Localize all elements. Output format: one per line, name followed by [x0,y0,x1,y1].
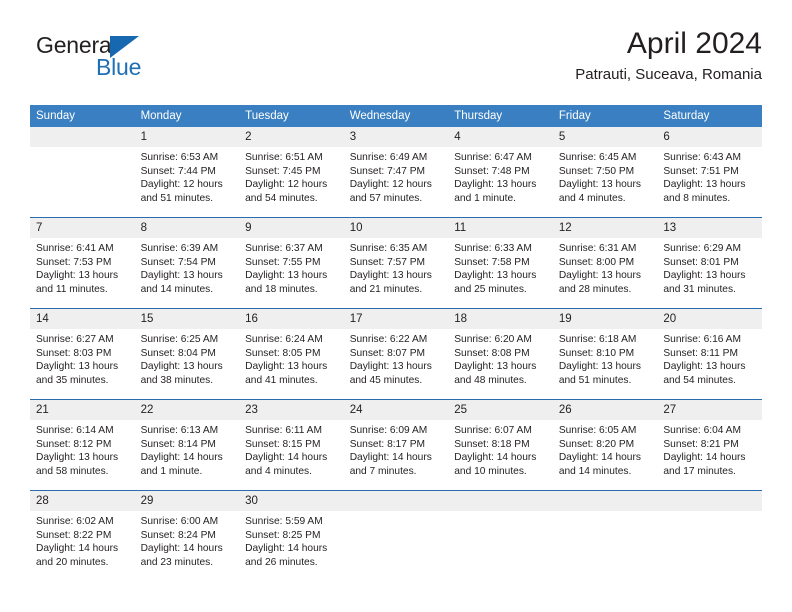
day-cell-empty [553,491,658,580]
daylight-duration-line2: and 21 minutes. [350,283,443,297]
daylight-duration-line1: Daylight: 13 hours [559,269,652,283]
calendar-cell: 7Sunrise: 6:41 AMSunset: 7:53 PMDaylight… [30,218,135,309]
sunset-time: Sunset: 8:05 PM [245,347,338,361]
calendar-cell: 23Sunrise: 6:11 AMSunset: 8:15 PMDayligh… [239,400,344,491]
day-number: 21 [30,400,135,420]
daylight-duration-line2: and 51 minutes. [141,192,234,206]
day-number: 23 [239,400,344,420]
day-number: 13 [657,218,762,238]
daylight-duration-line2: and 14 minutes. [559,465,652,479]
daylight-duration-line1: Daylight: 13 hours [663,178,756,192]
day-number: 16 [239,309,344,329]
sunrise-time: Sunrise: 6:31 AM [559,242,652,256]
sunrise-time: Sunrise: 6:11 AM [245,424,338,438]
page-header: General Blue April 2024 Patrauti, Suceav… [30,26,762,98]
day-number: 5 [553,127,658,147]
day-number [553,491,658,511]
calendar-cell: 10Sunrise: 6:35 AMSunset: 7:57 PMDayligh… [344,218,449,309]
day-number: 3 [344,127,449,147]
daylight-duration-line2: and 54 minutes. [245,192,338,206]
day-number: 26 [553,400,658,420]
day-cell-9[interactable]: 9Sunrise: 6:37 AMSunset: 7:55 PMDaylight… [239,218,344,307]
daylight-duration-line1: Daylight: 13 hours [36,269,129,283]
daylight-duration-line2: and 11 minutes. [36,283,129,297]
sunrise-time: Sunrise: 6:37 AM [245,242,338,256]
day-details: Sunrise: 5:59 AMSunset: 8:25 PMDaylight:… [239,511,344,569]
daylight-duration-line1: Daylight: 13 hours [454,360,547,374]
day-details: Sunrise: 6:39 AMSunset: 7:54 PMDaylight:… [135,238,240,296]
day-number [344,491,449,511]
calendar-cell: 1Sunrise: 6:53 AMSunset: 7:44 PMDaylight… [135,127,240,218]
day-cell-29[interactable]: 29Sunrise: 6:00 AMSunset: 8:24 PMDayligh… [135,491,240,580]
daylight-duration-line2: and 1 minute. [454,192,547,206]
day-number: 10 [344,218,449,238]
day-cell-15[interactable]: 15Sunrise: 6:25 AMSunset: 8:04 PMDayligh… [135,309,240,398]
daylight-duration-line2: and 41 minutes. [245,374,338,388]
day-number: 29 [135,491,240,511]
title-block: April 2024 Patrauti, Suceava, Romania [575,26,762,86]
calendar-cell: 6Sunrise: 6:43 AMSunset: 7:51 PMDaylight… [657,127,762,218]
daylight-duration-line1: Daylight: 13 hours [245,269,338,283]
daylight-duration-line2: and 28 minutes. [559,283,652,297]
weekday-header-monday: Monday [135,105,240,127]
daylight-duration-line2: and 48 minutes. [454,374,547,388]
day-details: Sunrise: 6:09 AMSunset: 8:17 PMDaylight:… [344,420,449,478]
daylight-duration-line1: Daylight: 13 hours [350,269,443,283]
sunset-time: Sunset: 8:03 PM [36,347,129,361]
calendar-cell: 18Sunrise: 6:20 AMSunset: 8:08 PMDayligh… [448,309,553,400]
daylight-duration-line2: and 51 minutes. [559,374,652,388]
daylight-duration-line2: and 31 minutes. [663,283,756,297]
sunrise-time: Sunrise: 6:47 AM [454,151,547,165]
sunset-time: Sunset: 8:08 PM [454,347,547,361]
sunrise-time: Sunrise: 6:22 AM [350,333,443,347]
day-cell-7[interactable]: 7Sunrise: 6:41 AMSunset: 7:53 PMDaylight… [30,218,135,307]
day-details: Sunrise: 6:33 AMSunset: 7:58 PMDaylight:… [448,238,553,296]
day-cell-3[interactable]: 3Sunrise: 6:49 AMSunset: 7:47 PMDaylight… [344,127,449,216]
daylight-duration-line2: and 17 minutes. [663,465,756,479]
day-cell-19[interactable]: 19Sunrise: 6:18 AMSunset: 8:10 PMDayligh… [553,309,658,398]
calendar-cell: 19Sunrise: 6:18 AMSunset: 8:10 PMDayligh… [553,309,658,400]
day-details: Sunrise: 6:27 AMSunset: 8:03 PMDaylight:… [30,329,135,387]
day-details: Sunrise: 6:37 AMSunset: 7:55 PMDaylight:… [239,238,344,296]
sunset-time: Sunset: 7:45 PM [245,165,338,179]
day-cell-2[interactable]: 2Sunrise: 6:51 AMSunset: 7:45 PMDaylight… [239,127,344,216]
day-cell-26[interactable]: 26Sunrise: 6:05 AMSunset: 8:20 PMDayligh… [553,400,658,489]
sunrise-time: Sunrise: 6:33 AM [454,242,547,256]
sunrise-time: Sunrise: 6:53 AM [141,151,234,165]
weekday-header-row: SundayMondayTuesdayWednesdayThursdayFrid… [30,105,762,127]
daylight-duration-line1: Daylight: 14 hours [350,451,443,465]
daylight-duration-line2: and 58 minutes. [36,465,129,479]
sunrise-time: Sunrise: 6:04 AM [663,424,756,438]
day-number: 22 [135,400,240,420]
calendar-cell: 28Sunrise: 6:02 AMSunset: 8:22 PMDayligh… [30,491,135,582]
daylight-duration-line1: Daylight: 14 hours [245,542,338,556]
calendar-cell [657,491,762,582]
sunset-time: Sunset: 8:04 PM [141,347,234,361]
day-details: Sunrise: 6:51 AMSunset: 7:45 PMDaylight:… [239,147,344,205]
daylight-duration-line2: and 20 minutes. [36,556,129,570]
calendar-cell: 26Sunrise: 6:05 AMSunset: 8:20 PMDayligh… [553,400,658,491]
daylight-duration-line2: and 4 minutes. [559,192,652,206]
calendar-cell: 21Sunrise: 6:14 AMSunset: 8:12 PMDayligh… [30,400,135,491]
calendar-cell: 5Sunrise: 6:45 AMSunset: 7:50 PMDaylight… [553,127,658,218]
daylight-duration-line2: and 18 minutes. [245,283,338,297]
day-cell-25[interactable]: 25Sunrise: 6:07 AMSunset: 8:18 PMDayligh… [448,400,553,489]
calendar-cell: 2Sunrise: 6:51 AMSunset: 7:45 PMDaylight… [239,127,344,218]
day-cell-22[interactable]: 22Sunrise: 6:13 AMSunset: 8:14 PMDayligh… [135,400,240,489]
sunset-time: Sunset: 7:53 PM [36,256,129,270]
sunrise-time: Sunrise: 6:20 AM [454,333,547,347]
sunrise-time: Sunrise: 5:59 AM [245,515,338,529]
calendar-cell [344,491,449,582]
day-cell-16[interactable]: 16Sunrise: 6:24 AMSunset: 8:05 PMDayligh… [239,309,344,398]
day-cell-5[interactable]: 5Sunrise: 6:45 AMSunset: 7:50 PMDaylight… [553,127,658,216]
day-cell-13[interactable]: 13Sunrise: 6:29 AMSunset: 8:01 PMDayligh… [657,218,762,307]
sunset-time: Sunset: 7:48 PM [454,165,547,179]
sunrise-time: Sunrise: 6:35 AM [350,242,443,256]
sunrise-time: Sunrise: 6:39 AM [141,242,234,256]
sunrise-time: Sunrise: 6:16 AM [663,333,756,347]
day-number: 15 [135,309,240,329]
day-number: 18 [448,309,553,329]
day-cell-6[interactable]: 6Sunrise: 6:43 AMSunset: 7:51 PMDaylight… [657,127,762,216]
calendar-week-row: 1Sunrise: 6:53 AMSunset: 7:44 PMDaylight… [30,127,762,218]
sunrise-time: Sunrise: 6:25 AM [141,333,234,347]
day-details: Sunrise: 6:35 AMSunset: 7:57 PMDaylight:… [344,238,449,296]
sunset-time: Sunset: 8:14 PM [141,438,234,452]
day-cell-28[interactable]: 28Sunrise: 6:02 AMSunset: 8:22 PMDayligh… [30,491,135,580]
day-details: Sunrise: 6:43 AMSunset: 7:51 PMDaylight:… [657,147,762,205]
day-details: Sunrise: 6:18 AMSunset: 8:10 PMDaylight:… [553,329,658,387]
sunset-time: Sunset: 7:57 PM [350,256,443,270]
weekday-header-tuesday: Tuesday [239,105,344,127]
sunrise-time: Sunrise: 6:27 AM [36,333,129,347]
calendar-cell [553,491,658,582]
day-details: Sunrise: 6:02 AMSunset: 8:22 PMDaylight:… [30,511,135,569]
calendar-cell: 11Sunrise: 6:33 AMSunset: 7:58 PMDayligh… [448,218,553,309]
weekday-header-saturday: Saturday [657,105,762,127]
daylight-duration-line1: Daylight: 13 hours [245,360,338,374]
day-details: Sunrise: 6:22 AMSunset: 8:07 PMDaylight:… [344,329,449,387]
day-cell-empty [448,491,553,580]
daylight-duration-line2: and 25 minutes. [454,283,547,297]
day-details: Sunrise: 6:41 AMSunset: 7:53 PMDaylight:… [30,238,135,296]
daylight-duration-line2: and 14 minutes. [141,283,234,297]
sunset-time: Sunset: 8:01 PM [663,256,756,270]
day-cell-1[interactable]: 1Sunrise: 6:53 AMSunset: 7:44 PMDaylight… [135,127,240,216]
calendar-cell: 3Sunrise: 6:49 AMSunset: 7:47 PMDaylight… [344,127,449,218]
day-details: Sunrise: 6:07 AMSunset: 8:18 PMDaylight:… [448,420,553,478]
day-number: 20 [657,309,762,329]
calendar-cell: 12Sunrise: 6:31 AMSunset: 8:00 PMDayligh… [553,218,658,309]
sunrise-time: Sunrise: 6:18 AM [559,333,652,347]
daylight-duration-line1: Daylight: 13 hours [141,360,234,374]
sunset-time: Sunset: 8:15 PM [245,438,338,452]
daylight-duration-line1: Daylight: 13 hours [350,360,443,374]
day-details: Sunrise: 6:31 AMSunset: 8:00 PMDaylight:… [553,238,658,296]
sunrise-time: Sunrise: 6:00 AM [141,515,234,529]
day-number: 7 [30,218,135,238]
day-details: Sunrise: 6:00 AMSunset: 8:24 PMDaylight:… [135,511,240,569]
day-details: Sunrise: 6:29 AMSunset: 8:01 PMDaylight:… [657,238,762,296]
sunset-time: Sunset: 8:24 PM [141,529,234,543]
sunset-time: Sunset: 8:18 PM [454,438,547,452]
daylight-duration-line1: Daylight: 14 hours [559,451,652,465]
day-details: Sunrise: 6:20 AMSunset: 8:08 PMDaylight:… [448,329,553,387]
page-title: April 2024 [575,26,762,62]
calendar-cell: 29Sunrise: 6:00 AMSunset: 8:24 PMDayligh… [135,491,240,582]
page-subtitle: Patrauti, Suceava, Romania [575,64,762,86]
sunset-time: Sunset: 7:51 PM [663,165,756,179]
daylight-duration-line2: and 8 minutes. [663,192,756,206]
daylight-duration-line1: Daylight: 13 hours [559,178,652,192]
calendar-cell: 4Sunrise: 6:47 AMSunset: 7:48 PMDaylight… [448,127,553,218]
sunrise-time: Sunrise: 6:13 AM [141,424,234,438]
day-number: 4 [448,127,553,147]
general-blue-logo[interactable]: General Blue [36,32,246,86]
sunset-time: Sunset: 8:21 PM [663,438,756,452]
calendar-cell: 25Sunrise: 6:07 AMSunset: 8:18 PMDayligh… [448,400,553,491]
sunset-time: Sunset: 7:44 PM [141,165,234,179]
sunrise-time: Sunrise: 6:43 AM [663,151,756,165]
weekday-header-thursday: Thursday [448,105,553,127]
day-cell-30[interactable]: 30Sunrise: 5:59 AMSunset: 8:25 PMDayligh… [239,491,344,580]
daylight-duration-line1: Daylight: 12 hours [141,178,234,192]
calendar-cell: 17Sunrise: 6:22 AMSunset: 8:07 PMDayligh… [344,309,449,400]
day-cell-21[interactable]: 21Sunrise: 6:14 AMSunset: 8:12 PMDayligh… [30,400,135,489]
day-cell-empty [344,491,449,580]
sunset-time: Sunset: 8:17 PM [350,438,443,452]
sunset-time: Sunset: 8:10 PM [559,347,652,361]
daylight-duration-line2: and 38 minutes. [141,374,234,388]
day-number: 9 [239,218,344,238]
day-details: Sunrise: 6:53 AMSunset: 7:44 PMDaylight:… [135,147,240,205]
daylight-duration-line1: Daylight: 12 hours [350,178,443,192]
daylight-duration-line1: Daylight: 14 hours [36,542,129,556]
calendar-cell: 13Sunrise: 6:29 AMSunset: 8:01 PMDayligh… [657,218,762,309]
day-cell-14[interactable]: 14Sunrise: 6:27 AMSunset: 8:03 PMDayligh… [30,309,135,398]
sunset-time: Sunset: 8:00 PM [559,256,652,270]
calendar-header-row: SundayMondayTuesdayWednesdayThursdayFrid… [30,105,762,127]
calendar-week-row: 14Sunrise: 6:27 AMSunset: 8:03 PMDayligh… [30,309,762,400]
day-cell-8[interactable]: 8Sunrise: 6:39 AMSunset: 7:54 PMDaylight… [135,218,240,307]
calendar-page: General Blue April 2024 Patrauti, Suceav… [0,0,792,612]
day-details: Sunrise: 6:24 AMSunset: 8:05 PMDaylight:… [239,329,344,387]
sunset-time: Sunset: 7:50 PM [559,165,652,179]
sunset-time: Sunset: 8:22 PM [36,529,129,543]
day-number [657,491,762,511]
day-number: 30 [239,491,344,511]
sunset-time: Sunset: 8:20 PM [559,438,652,452]
sunrise-time: Sunrise: 6:45 AM [559,151,652,165]
daylight-duration-line1: Daylight: 13 hours [454,269,547,283]
calendar-week-row: 7Sunrise: 6:41 AMSunset: 7:53 PMDaylight… [30,218,762,309]
day-number [448,491,553,511]
day-details: Sunrise: 6:05 AMSunset: 8:20 PMDaylight:… [553,420,658,478]
calendar-cell: 8Sunrise: 6:39 AMSunset: 7:54 PMDaylight… [135,218,240,309]
day-cell-24[interactable]: 24Sunrise: 6:09 AMSunset: 8:17 PMDayligh… [344,400,449,489]
day-number: 1 [135,127,240,147]
day-number: 8 [135,218,240,238]
day-cell-4[interactable]: 4Sunrise: 6:47 AMSunset: 7:48 PMDaylight… [448,127,553,216]
daylight-duration-line1: Daylight: 13 hours [141,269,234,283]
daylight-duration-line1: Daylight: 14 hours [245,451,338,465]
day-number: 12 [553,218,658,238]
sunrise-time: Sunrise: 6:02 AM [36,515,129,529]
sunrise-time: Sunrise: 6:49 AM [350,151,443,165]
day-cell-11[interactable]: 11Sunrise: 6:33 AMSunset: 7:58 PMDayligh… [448,218,553,307]
sunrise-time: Sunrise: 6:41 AM [36,242,129,256]
day-cell-12[interactable]: 12Sunrise: 6:31 AMSunset: 8:00 PMDayligh… [553,218,658,307]
daylight-duration-line2: and 1 minute. [141,465,234,479]
calendar-body: 1Sunrise: 6:53 AMSunset: 7:44 PMDaylight… [30,127,762,581]
day-number: 14 [30,309,135,329]
day-number [30,127,135,147]
calendar-cell: 20Sunrise: 6:16 AMSunset: 8:11 PMDayligh… [657,309,762,400]
day-details: Sunrise: 6:11 AMSunset: 8:15 PMDaylight:… [239,420,344,478]
daylight-duration-line2: and 4 minutes. [245,465,338,479]
day-cell-empty [657,491,762,580]
daylight-duration-line1: Daylight: 13 hours [559,360,652,374]
daylight-duration-line1: Daylight: 13 hours [36,360,129,374]
day-cell-10[interactable]: 10Sunrise: 6:35 AMSunset: 7:57 PMDayligh… [344,218,449,307]
day-cell-23[interactable]: 23Sunrise: 6:11 AMSunset: 8:15 PMDayligh… [239,400,344,489]
daylight-duration-line2: and 54 minutes. [663,374,756,388]
day-cell-20[interactable]: 20Sunrise: 6:16 AMSunset: 8:11 PMDayligh… [657,309,762,398]
calendar-cell: 14Sunrise: 6:27 AMSunset: 8:03 PMDayligh… [30,309,135,400]
sunset-time: Sunset: 8:11 PM [663,347,756,361]
daylight-duration-line2: and 10 minutes. [454,465,547,479]
daylight-duration-line1: Daylight: 14 hours [454,451,547,465]
day-number: 6 [657,127,762,147]
sunset-time: Sunset: 7:55 PM [245,256,338,270]
day-number: 27 [657,400,762,420]
day-number: 24 [344,400,449,420]
sunrise-time: Sunrise: 6:05 AM [559,424,652,438]
day-details: Sunrise: 6:16 AMSunset: 8:11 PMDaylight:… [657,329,762,387]
sunrise-time: Sunrise: 6:29 AM [663,242,756,256]
calendar-cell: 15Sunrise: 6:25 AMSunset: 8:04 PMDayligh… [135,309,240,400]
daylight-duration-line2: and 35 minutes. [36,374,129,388]
day-cell-empty [30,127,135,216]
daylight-duration-line1: Daylight: 13 hours [454,178,547,192]
weekday-header-sunday: Sunday [30,105,135,127]
day-number: 28 [30,491,135,511]
calendar-grid: SundayMondayTuesdayWednesdayThursdayFrid… [30,105,762,581]
weekday-header-friday: Friday [553,105,658,127]
calendar-cell: 27Sunrise: 6:04 AMSunset: 8:21 PMDayligh… [657,400,762,491]
daylight-duration-line2: and 7 minutes. [350,465,443,479]
sunset-time: Sunset: 8:07 PM [350,347,443,361]
day-cell-17[interactable]: 17Sunrise: 6:22 AMSunset: 8:07 PMDayligh… [344,309,449,398]
sunset-time: Sunset: 7:47 PM [350,165,443,179]
logo-text-blue: Blue [96,54,141,81]
daylight-duration-line2: and 45 minutes. [350,374,443,388]
daylight-duration-line2: and 57 minutes. [350,192,443,206]
day-number: 19 [553,309,658,329]
sunrise-time: Sunrise: 6:07 AM [454,424,547,438]
day-number: 17 [344,309,449,329]
daylight-duration-line1: Daylight: 14 hours [663,451,756,465]
daylight-duration-line1: Daylight: 14 hours [141,451,234,465]
day-cell-18[interactable]: 18Sunrise: 6:20 AMSunset: 8:08 PMDayligh… [448,309,553,398]
weekday-header-wednesday: Wednesday [344,105,449,127]
day-number: 11 [448,218,553,238]
day-number: 25 [448,400,553,420]
calendar-cell: 30Sunrise: 5:59 AMSunset: 8:25 PMDayligh… [239,491,344,582]
calendar-cell [448,491,553,582]
daylight-duration-line2: and 26 minutes. [245,556,338,570]
calendar-cell: 22Sunrise: 6:13 AMSunset: 8:14 PMDayligh… [135,400,240,491]
calendar-cell: 24Sunrise: 6:09 AMSunset: 8:17 PMDayligh… [344,400,449,491]
sunset-time: Sunset: 8:12 PM [36,438,129,452]
day-details: Sunrise: 6:04 AMSunset: 8:21 PMDaylight:… [657,420,762,478]
day-number: 2 [239,127,344,147]
daylight-duration-line1: Daylight: 14 hours [141,542,234,556]
sunrise-time: Sunrise: 6:24 AM [245,333,338,347]
day-details: Sunrise: 6:49 AMSunset: 7:47 PMDaylight:… [344,147,449,205]
day-details: Sunrise: 6:25 AMSunset: 8:04 PMDaylight:… [135,329,240,387]
calendar-cell: 9Sunrise: 6:37 AMSunset: 7:55 PMDaylight… [239,218,344,309]
day-cell-27[interactable]: 27Sunrise: 6:04 AMSunset: 8:21 PMDayligh… [657,400,762,489]
calendar-week-row: 21Sunrise: 6:14 AMSunset: 8:12 PMDayligh… [30,400,762,491]
calendar-cell [30,127,135,218]
calendar-cell: 16Sunrise: 6:24 AMSunset: 8:05 PMDayligh… [239,309,344,400]
day-details: Sunrise: 6:13 AMSunset: 8:14 PMDaylight:… [135,420,240,478]
daylight-duration-line1: Daylight: 12 hours [245,178,338,192]
sunrise-time: Sunrise: 6:14 AM [36,424,129,438]
day-details: Sunrise: 6:47 AMSunset: 7:48 PMDaylight:… [448,147,553,205]
day-details: Sunrise: 6:14 AMSunset: 8:12 PMDaylight:… [30,420,135,478]
sunrise-time: Sunrise: 6:51 AM [245,151,338,165]
sunset-time: Sunset: 8:25 PM [245,529,338,543]
calendar-week-row: 28Sunrise: 6:02 AMSunset: 8:22 PMDayligh… [30,491,762,582]
daylight-duration-line1: Daylight: 13 hours [663,269,756,283]
day-details: Sunrise: 6:45 AMSunset: 7:50 PMDaylight:… [553,147,658,205]
daylight-duration-line1: Daylight: 13 hours [36,451,129,465]
sunset-time: Sunset: 7:54 PM [141,256,234,270]
sunset-time: Sunset: 7:58 PM [454,256,547,270]
daylight-duration-line2: and 23 minutes. [141,556,234,570]
daylight-duration-line1: Daylight: 13 hours [663,360,756,374]
sunrise-time: Sunrise: 6:09 AM [350,424,443,438]
